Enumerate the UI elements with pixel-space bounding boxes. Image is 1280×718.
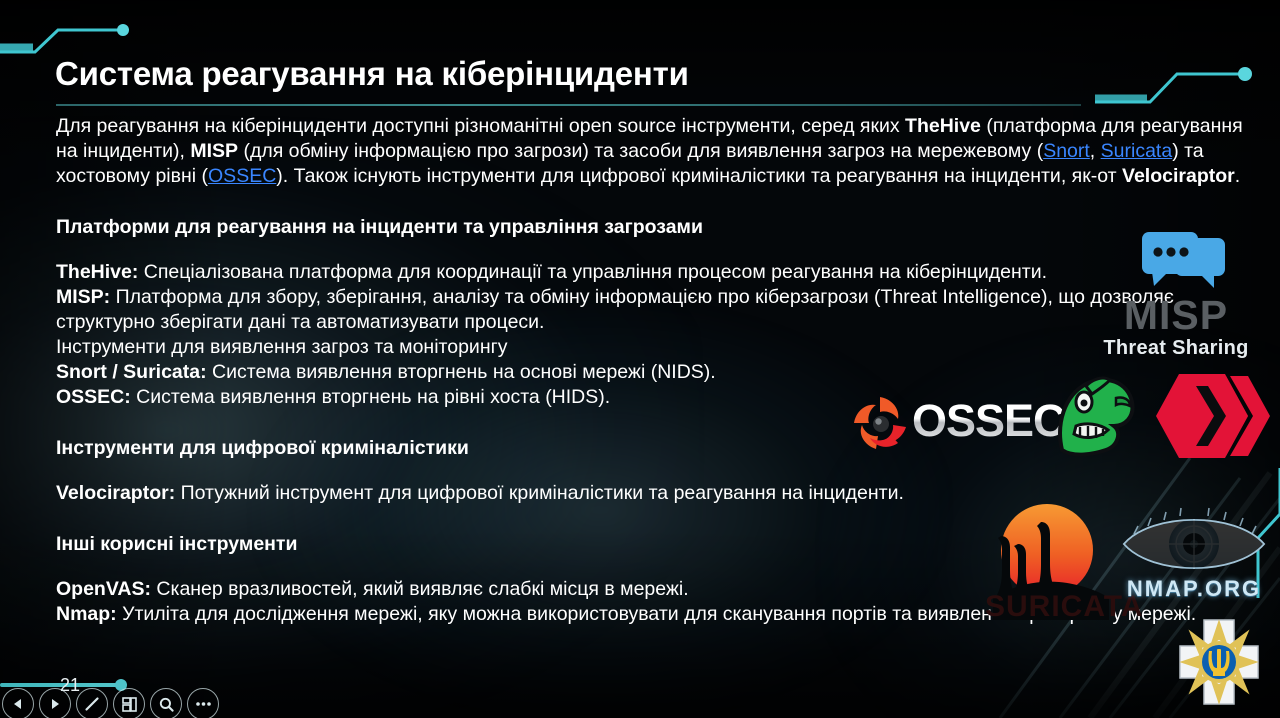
- intro-text-7: .: [1235, 165, 1240, 187]
- slide-overview-button[interactable]: [113, 688, 145, 718]
- slide-toolbar: [0, 688, 219, 718]
- slide-title: Система реагування на кіберінциденти: [55, 55, 689, 93]
- spacer: [56, 189, 1246, 215]
- pen-icon: [83, 695, 101, 713]
- item-text: Платформа для збору, зберігання, аналізу…: [56, 286, 1174, 333]
- item-term: TheHive:: [56, 261, 138, 283]
- ukraine-cyber-service-emblem: [1176, 616, 1262, 708]
- intro-paragraph: Для реагування на кіберінциденти доступн…: [56, 114, 1246, 189]
- item-term: OpenVAS:: [56, 578, 151, 600]
- link-ossec[interactable]: OSSEC: [208, 165, 276, 187]
- misp-tagline: Threat Sharing: [1090, 337, 1262, 360]
- ossec-wordmark: OSSEC: [912, 398, 1065, 443]
- next-slide-button[interactable]: [39, 688, 71, 718]
- item-text: Система виявлення вторгнень на рівні хос…: [131, 386, 610, 408]
- nmap-eye-icon: [1118, 500, 1270, 586]
- prev-slide-button[interactable]: [2, 688, 34, 718]
- triangle-right-icon: [48, 697, 62, 711]
- item-text: Потужний інструмент для цифрової криміна…: [175, 482, 904, 504]
- item-term: OSSEC:: [56, 386, 131, 408]
- spacer: [56, 461, 1246, 481]
- suricata-logo: SURICATA: [985, 494, 1113, 620]
- item-thehive: TheHive: Спеціалізована платформа для ко…: [56, 260, 1246, 285]
- intro-text-6: ). Також існують інструменти для цифрово…: [276, 165, 1122, 187]
- nmap-wordmark: NMAP.ORG: [1118, 576, 1270, 602]
- spacer: [56, 240, 1246, 260]
- intro-bold-velociraptor: Velociraptor: [1122, 165, 1235, 187]
- suricata-wordmark: SURICATA: [985, 590, 1113, 624]
- intro-bold-thehive: TheHive: [905, 115, 981, 137]
- title-divider: [56, 104, 1081, 106]
- thehive-logo: [1152, 370, 1270, 462]
- intro-bold-misp: MISP: [190, 140, 238, 162]
- pen-tool-button[interactable]: [76, 688, 108, 718]
- grid-icon: [121, 696, 138, 713]
- search-icon: [158, 696, 175, 713]
- item-text: Спеціалізована платформа для координації…: [138, 261, 1047, 283]
- zoom-button[interactable]: [150, 688, 182, 718]
- item-term: Nmap:: [56, 603, 117, 625]
- intro-text-1: Для реагування на кіберінциденти доступн…: [56, 115, 905, 137]
- item-term: Snort / Suricata:: [56, 361, 207, 383]
- item-term: Velociraptor:: [56, 482, 175, 504]
- item-term: MISP:: [56, 286, 110, 308]
- item-text: Система виявлення вторгнень на основі ме…: [207, 361, 716, 383]
- misp-speech-bubble-icon: [1090, 232, 1262, 290]
- section-heading-platforms: Платформи для реагування на інциденти та…: [56, 215, 1246, 240]
- intro-text-3: (для обміну інформацією про загрози) та …: [238, 140, 1043, 162]
- misp-wordmark: MISP: [1090, 295, 1262, 336]
- link-snort[interactable]: Snort: [1043, 140, 1090, 162]
- ossec-logo: OSSEC: [848, 392, 1038, 454]
- velociraptor-logo: [1056, 372, 1138, 460]
- item-text: Сканер вразливостей, який виявляє слабкі…: [151, 578, 689, 600]
- presentation-slide: Система реагування на кіберінциденти Для…: [0, 0, 1280, 718]
- section-heading-detection: Інструменти для виявлення загроз та моні…: [56, 335, 1246, 360]
- misp-logo: MISP Threat Sharing: [1090, 232, 1262, 344]
- intro-text-4: ,: [1090, 140, 1101, 162]
- item-misp: MISP: Платформа для збору, зберігання, а…: [56, 285, 1246, 335]
- more-options-button[interactable]: [187, 688, 219, 718]
- ellipsis-icon: [195, 701, 212, 707]
- triangle-left-icon: [11, 697, 25, 711]
- nmap-logo: NMAP.ORG: [1118, 500, 1270, 604]
- link-suricata[interactable]: Suricata: [1101, 140, 1173, 162]
